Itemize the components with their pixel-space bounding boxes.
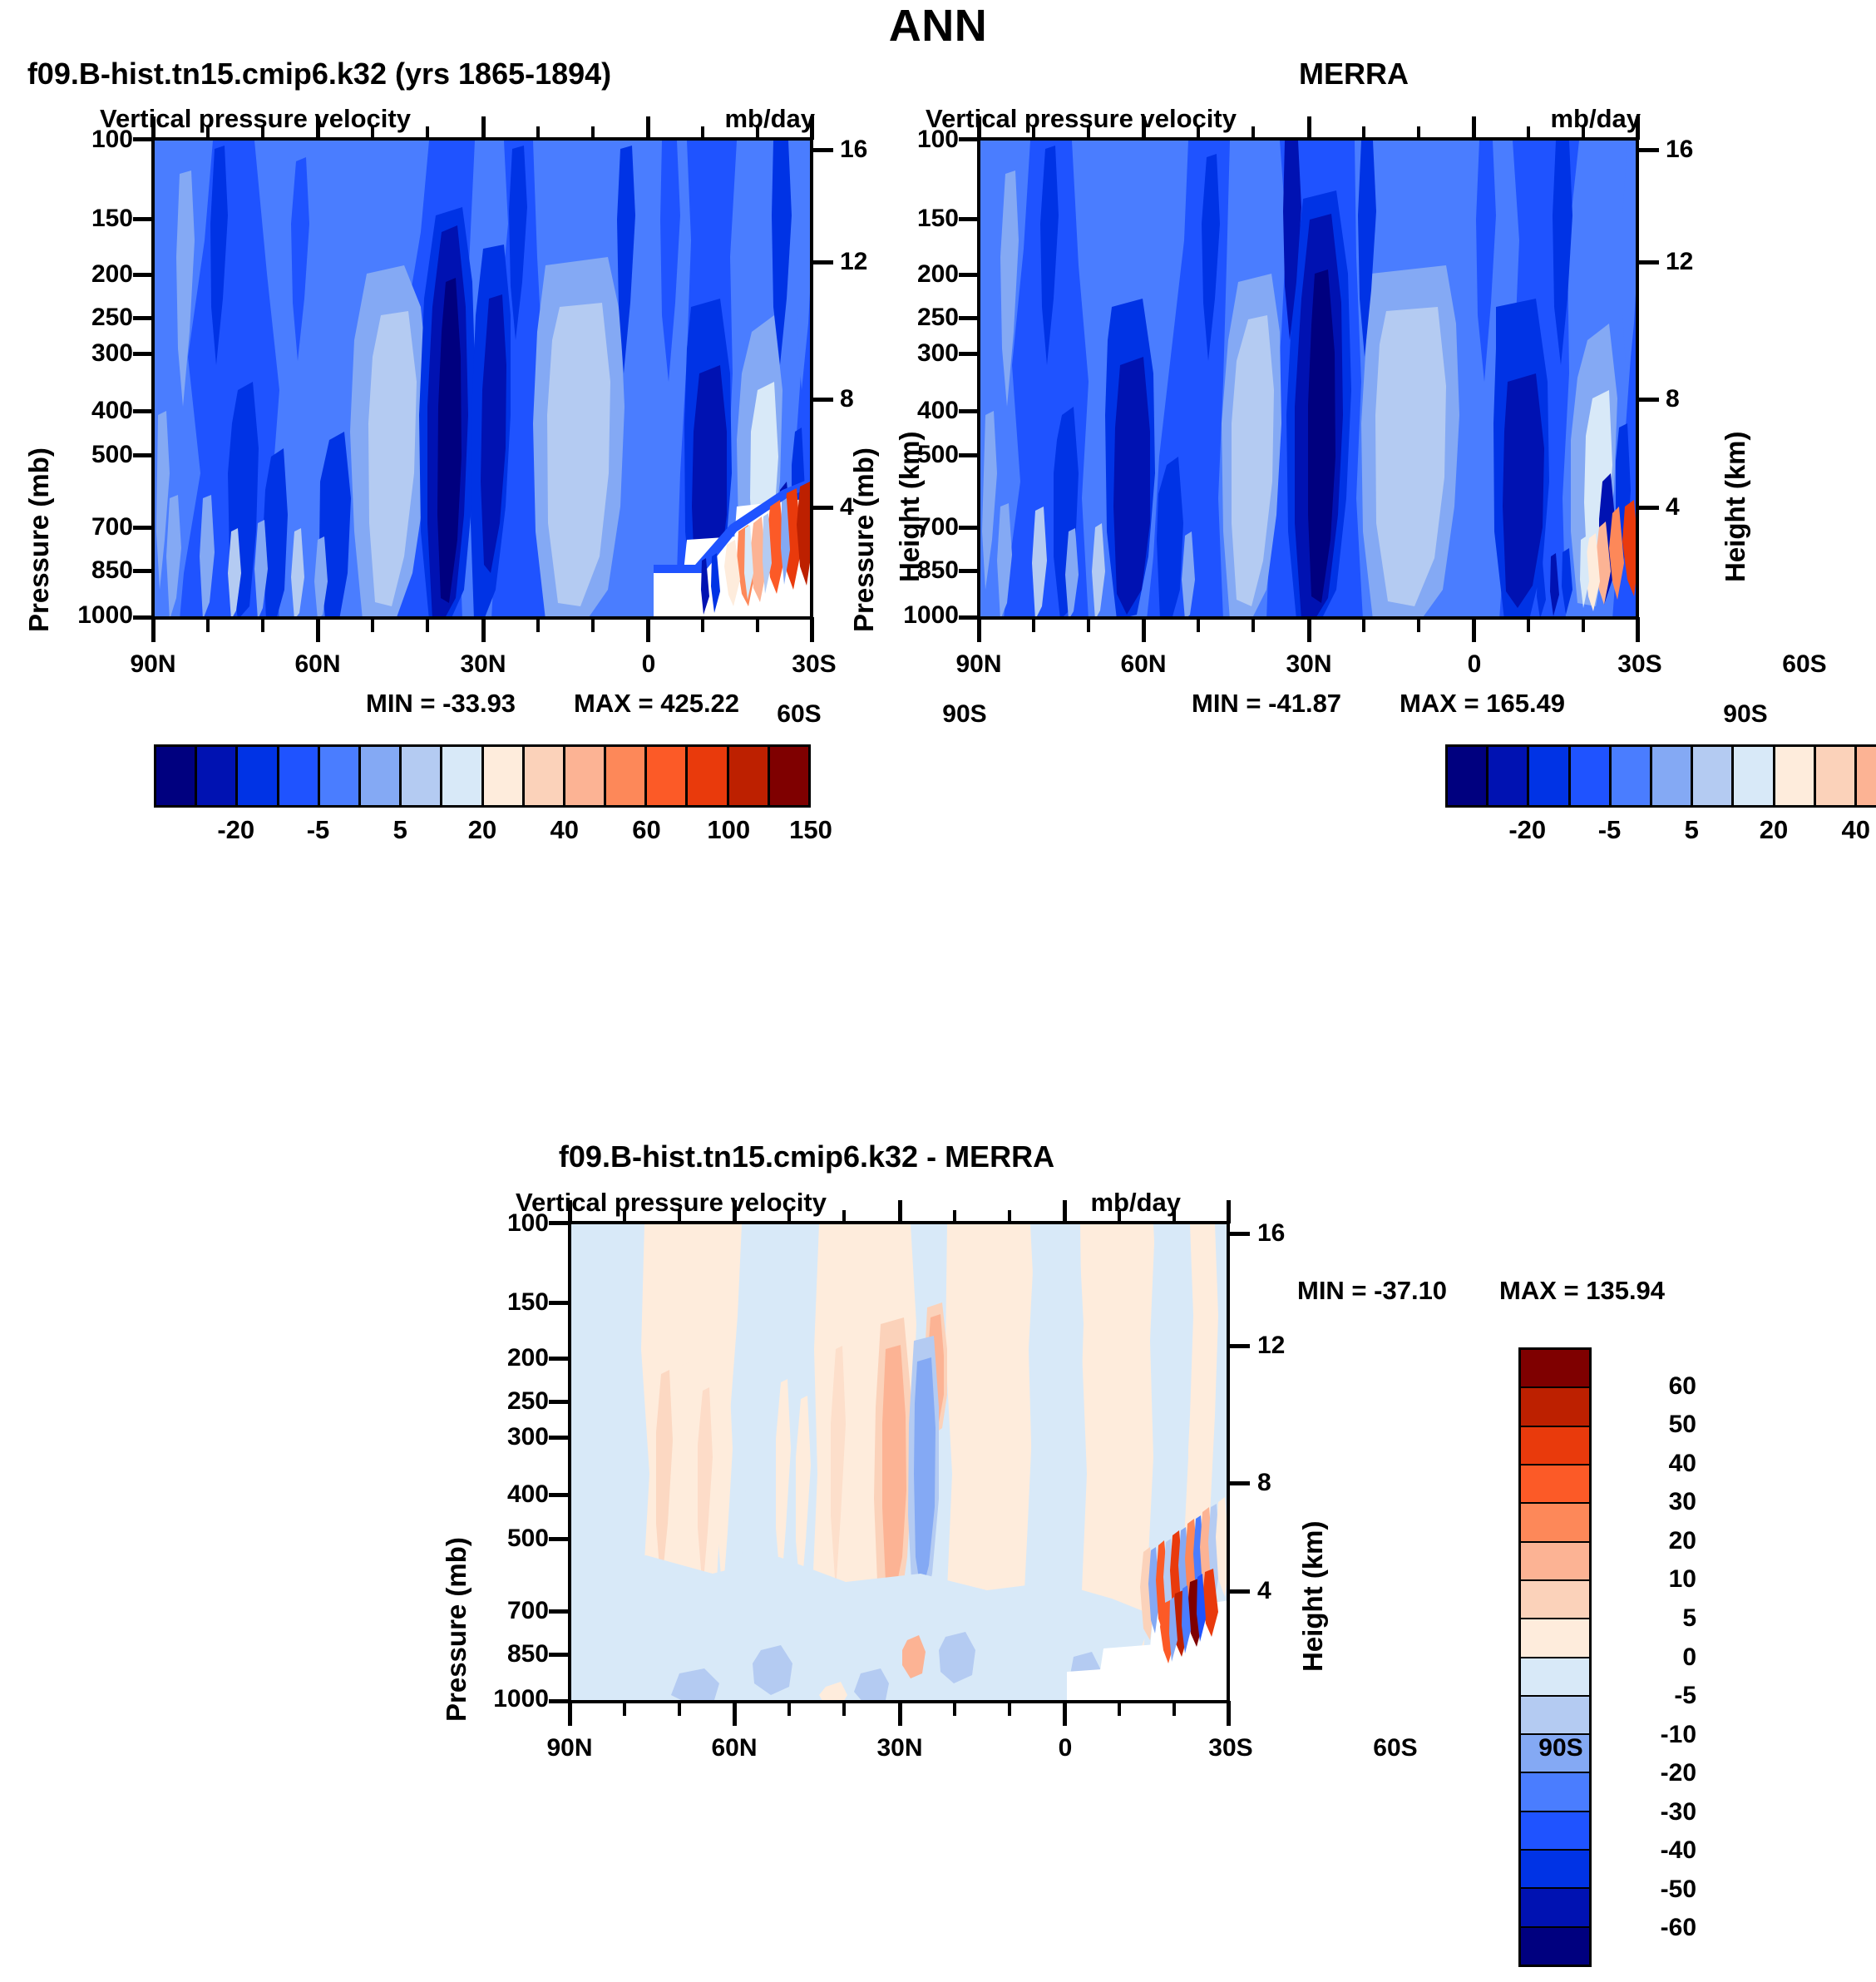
panel-obs-title: MERRA xyxy=(1299,57,1409,91)
height-tick-8: 8 xyxy=(1257,1469,1316,1497)
colorbar-tick-label: 5 xyxy=(393,815,407,845)
pressure-tick-1000: 1000 xyxy=(462,1685,549,1713)
colorbar-tick-label: 60 xyxy=(632,815,660,845)
lat-tick-60S: 60S xyxy=(1782,650,1826,679)
colorbar-tick-label: 20 xyxy=(1760,815,1788,845)
xtick-mark-top xyxy=(371,126,374,140)
ytick-mark-right xyxy=(813,148,833,152)
xtick-mark-top xyxy=(261,126,264,140)
colorbar-cell-10 xyxy=(1857,747,1876,805)
ytick-mark-right xyxy=(813,260,833,264)
lat-tick-90N: 90N xyxy=(955,650,1001,679)
colorbar-tick-label: 150 xyxy=(789,815,832,845)
xtick-mark-bottom xyxy=(591,617,595,632)
colorbar-model[interactable] xyxy=(154,744,811,808)
xtick-mark-top xyxy=(733,1200,737,1223)
colorbar-cell-8 xyxy=(484,747,525,805)
colorbar-diff-cell-6 xyxy=(1521,1581,1589,1619)
colorbar-cell-14 xyxy=(729,747,770,805)
colorbar-cell-4 xyxy=(320,747,361,805)
colorbar-diff-tick-label: 40 xyxy=(1669,1450,1696,1478)
pressure-tick-200: 200 xyxy=(884,260,959,289)
colorbar-tick-label: -5 xyxy=(1598,815,1622,845)
colorbar-obs-labels: -20-55204060100150 xyxy=(1445,815,1876,852)
xtick-mark-top xyxy=(1032,126,1035,140)
colorbar-cell-5 xyxy=(361,747,402,805)
ytick-mark xyxy=(549,1493,569,1497)
xtick-mark-bottom xyxy=(1362,617,1365,632)
xtick-mark-bottom xyxy=(1636,617,1640,642)
ytick-mark xyxy=(549,1436,569,1440)
pressure-tick-300: 300 xyxy=(58,339,133,368)
lat-tick-60N: 60N xyxy=(711,1734,757,1762)
colorbar-cell-9 xyxy=(1816,747,1857,805)
xtick-mark-top xyxy=(1118,1210,1121,1223)
lat-tick-0: 0 xyxy=(1468,650,1482,679)
pressure-tick-700: 700 xyxy=(884,513,959,541)
xtick-mark-bottom xyxy=(678,1701,681,1716)
lat-tick-90S-diff: 90S xyxy=(1538,1734,1582,1762)
ytick-mark xyxy=(959,615,979,620)
pressure-tick-100: 100 xyxy=(58,126,133,154)
pressure-tick-250: 250 xyxy=(884,304,959,332)
ytick-mark-right xyxy=(1639,506,1659,510)
ytick-mark xyxy=(959,409,979,413)
lat-tick-60S-model: 60S xyxy=(777,700,821,729)
units-label: mb/day xyxy=(724,104,815,134)
colorbar-cell-4 xyxy=(1612,747,1652,805)
ytick-mark xyxy=(133,316,153,320)
colorbar-cell-0 xyxy=(1448,747,1488,805)
colorbar-diff-tick-label: -60 xyxy=(1661,1914,1696,1942)
xtick-mark-bottom xyxy=(1142,617,1146,642)
colorbar-diff-tick-label: 30 xyxy=(1669,1488,1696,1516)
colorbar-cell-7 xyxy=(1734,747,1775,805)
ytick-mark xyxy=(549,1221,569,1225)
pressure-tick-1000: 1000 xyxy=(46,601,133,630)
pressure-tick-150: 150 xyxy=(474,1288,549,1317)
ytick-mark xyxy=(549,1699,569,1703)
xtick-mark-bottom xyxy=(1008,1701,1011,1716)
colorbar-cell-3 xyxy=(1571,747,1612,805)
panel-obs: MERRA Vertical pressure velocity mb/day … xyxy=(938,50,1876,1131)
xtick-mark-top xyxy=(1063,1200,1067,1223)
colorbar-diff-cell-2 xyxy=(1521,1427,1589,1465)
xtick-mark-bottom xyxy=(1118,1701,1121,1716)
xtick-mark-bottom xyxy=(756,617,759,632)
colorbar-cell-5 xyxy=(1652,747,1693,805)
colorbar-cell-6 xyxy=(1693,747,1734,805)
colorbar-diff-cell-5 xyxy=(1521,1543,1589,1581)
height-axis-label: Height (km) xyxy=(1720,432,1751,583)
variable-name-label: Vertical pressure velocity xyxy=(100,104,411,134)
pressure-tick-400: 400 xyxy=(474,1480,549,1509)
ytick-mark xyxy=(959,453,979,457)
xtick-mark-bottom xyxy=(1227,1701,1231,1726)
xtick-mark-bottom xyxy=(733,1701,737,1726)
pressure-tick-500: 500 xyxy=(884,441,959,469)
colorbar-diff-cell-4 xyxy=(1521,1504,1589,1542)
xtick-mark-bottom xyxy=(787,1701,791,1716)
height-tick-16: 16 xyxy=(1257,1219,1316,1248)
colorbar-diff-cell-12 xyxy=(1521,1812,1589,1851)
contour-plot-diff xyxy=(568,1221,1230,1703)
xtick-mark-bottom xyxy=(1063,1701,1067,1726)
xtick-mark-top xyxy=(898,1200,902,1223)
colorbar-cell-1 xyxy=(197,747,238,805)
xtick-mark-top xyxy=(591,126,595,140)
colorbar-obs[interactable] xyxy=(1445,744,1876,808)
xtick-mark-bottom xyxy=(1197,617,1200,632)
colorbar-tick-label: 100 xyxy=(707,815,750,845)
xtick-mark-bottom xyxy=(206,617,210,632)
xtick-mark-bottom xyxy=(701,617,704,632)
xtick-mark-top xyxy=(1472,116,1476,140)
ytick-mark xyxy=(549,1357,569,1361)
colorbar-diff-cell-7 xyxy=(1521,1619,1589,1658)
xtick-mark-bottom xyxy=(842,1701,846,1716)
colorbar-cell-0 xyxy=(156,747,197,805)
pressure-tick-500: 500 xyxy=(58,441,133,469)
pressure-tick-100: 100 xyxy=(884,126,959,154)
pressure-tick-250: 250 xyxy=(474,1387,549,1416)
pressure-tick-850: 850 xyxy=(474,1640,549,1668)
xtick-mark-top xyxy=(568,1200,572,1223)
ytick-mark-right xyxy=(1230,1232,1250,1236)
diff-max-label: MAX = 135.94 xyxy=(1499,1276,1665,1306)
pressure-tick-500: 500 xyxy=(474,1525,549,1553)
colorbar-tick-label: -5 xyxy=(307,815,330,845)
colorbar-diff-tick-label: -5 xyxy=(1674,1682,1696,1710)
ytick-mark-right xyxy=(1230,1481,1250,1485)
colorbar-diff-tick-label: 50 xyxy=(1669,1411,1696,1439)
lat-tick-30N: 30N xyxy=(1286,650,1331,679)
colorbar-tick-label: 40 xyxy=(550,815,579,845)
colorbar-diff-tick-label: 0 xyxy=(1682,1643,1696,1672)
colorbar-diff-cell-8 xyxy=(1521,1658,1589,1697)
pressure-tick-300: 300 xyxy=(474,1423,549,1451)
colorbar-diff-cell-11 xyxy=(1521,1773,1589,1811)
lat-tick-30S: 30S xyxy=(1617,650,1661,679)
xtick-mark-bottom xyxy=(898,1701,902,1726)
colorbar-cell-3 xyxy=(279,747,320,805)
ytick-mark xyxy=(959,273,979,277)
xtick-mark-top xyxy=(1008,1210,1011,1223)
xtick-mark-bottom xyxy=(1251,617,1255,632)
pressure-tick-300: 300 xyxy=(884,339,959,368)
panel-diff: f09.B-hist.tn15.cmip6.k32 - MERRA Vertic… xyxy=(466,1139,1422,1980)
ytick-mark-right xyxy=(1639,148,1659,152)
height-tick-4: 4 xyxy=(1257,1577,1316,1605)
lat-tick-60N: 60N xyxy=(294,650,340,679)
ytick-mark xyxy=(133,273,153,277)
pressure-tick-400: 400 xyxy=(884,397,959,425)
ytick-mark xyxy=(549,1653,569,1657)
ytick-mark xyxy=(549,1609,569,1614)
colorbar-diff-tick-label: 5 xyxy=(1682,1604,1696,1633)
xtick-mark-bottom xyxy=(1032,617,1035,632)
xtick-mark-top xyxy=(1172,1210,1176,1223)
xtick-mark-bottom xyxy=(1472,617,1476,642)
ytick-mark-right xyxy=(1230,1589,1250,1594)
xtick-mark-top xyxy=(787,1210,791,1223)
xtick-mark-top xyxy=(701,126,704,140)
colorbar-cell-2 xyxy=(238,747,279,805)
colorbar-diff-tick-label: -50 xyxy=(1661,1876,1696,1904)
xtick-mark-top xyxy=(1636,116,1640,140)
colorbar-diff-cell-13 xyxy=(1521,1851,1589,1889)
variable-name-label: Vertical pressure velocity xyxy=(926,104,1237,134)
xtick-mark-top xyxy=(1417,126,1420,140)
lat-tick-0: 0 xyxy=(1059,1734,1073,1762)
xtick-mark-top xyxy=(646,116,650,140)
pressure-tick-850: 850 xyxy=(884,556,959,585)
height-tick-16: 16 xyxy=(1666,136,1724,164)
xtick-mark-top xyxy=(481,116,486,140)
xtick-mark-bottom xyxy=(536,617,540,632)
colorbar-diff-tick-label: -40 xyxy=(1661,1836,1696,1865)
diff-min-label: MIN = -37.10 xyxy=(1297,1276,1447,1306)
pressure-tick-200: 200 xyxy=(58,260,133,289)
units-label: mb/day xyxy=(1090,1188,1181,1218)
xtick-mark-bottom xyxy=(810,617,814,642)
pressure-tick-250: 250 xyxy=(58,304,133,332)
ytick-mark xyxy=(549,1400,569,1404)
units-label: mb/day xyxy=(1550,104,1641,134)
xtick-mark-bottom xyxy=(1172,1701,1176,1716)
ytick-mark xyxy=(133,615,153,620)
model-max-label: MAX = 425.22 xyxy=(574,689,739,719)
xtick-mark-top xyxy=(1582,126,1585,140)
ytick-mark xyxy=(549,1537,569,1541)
colorbar-cell-1 xyxy=(1488,747,1529,805)
lat-tick-90S-model: 90S xyxy=(942,700,986,729)
pressure-tick-700: 700 xyxy=(474,1597,549,1625)
xtick-mark-top xyxy=(1251,126,1255,140)
colorbar-tick-label: -20 xyxy=(217,815,254,845)
xtick-mark-bottom xyxy=(1527,617,1530,632)
pressure-tick-150: 150 xyxy=(884,205,959,233)
xtick-mark-top xyxy=(678,1210,681,1223)
colorbar-cell-15 xyxy=(770,747,808,805)
colorbar-cell-13 xyxy=(688,747,728,805)
xtick-mark-bottom xyxy=(426,617,429,632)
colorbar-cell-12 xyxy=(647,747,688,805)
model-min-label: MIN = -33.93 xyxy=(366,689,516,719)
height-tick-4: 4 xyxy=(1666,493,1724,521)
xtick-mark-bottom xyxy=(646,617,650,642)
ytick-mark xyxy=(133,409,153,413)
colorbar-cell-2 xyxy=(1529,747,1570,805)
xtick-mark-top xyxy=(623,1210,626,1223)
xtick-mark-bottom xyxy=(481,617,486,642)
colorbar-tick-label: 40 xyxy=(1842,815,1870,845)
xtick-mark-top xyxy=(977,116,981,140)
xtick-mark-top xyxy=(426,126,429,140)
colorbar-cell-10 xyxy=(565,747,606,805)
colorbar-diff-tick-label: -10 xyxy=(1661,1721,1696,1749)
panel-model: f09.B-hist.tn15.cmip6.k32 (yrs 1865-1894… xyxy=(0,50,938,1131)
colorbar-tick-label: 20 xyxy=(468,815,496,845)
xtick-mark-bottom xyxy=(261,617,264,632)
xtick-mark-bottom xyxy=(151,617,156,642)
lat-tick-30S: 30S xyxy=(1208,1734,1252,1762)
colorbar-diff-tick-label: -30 xyxy=(1661,1798,1696,1826)
ytick-mark xyxy=(133,453,153,457)
xtick-mark-bottom xyxy=(316,617,320,642)
colorbar-diff-tick-label: 20 xyxy=(1669,1527,1696,1555)
pressure-tick-400: 400 xyxy=(58,397,133,425)
pressure-tick-200: 200 xyxy=(474,1344,549,1372)
colorbar-diff[interactable] xyxy=(1518,1347,1592,1967)
xtick-mark-top xyxy=(1087,126,1090,140)
xtick-mark-top xyxy=(953,1210,956,1223)
xtick-mark-top xyxy=(810,116,814,140)
contour-plot-obs xyxy=(977,137,1639,620)
contour-plot-model xyxy=(151,137,813,620)
pressure-tick-1000: 1000 xyxy=(871,601,959,630)
ytick-mark xyxy=(959,569,979,573)
colorbar-cell-7 xyxy=(442,747,483,805)
colorbar-diff-cell-14 xyxy=(1521,1889,1589,1927)
xtick-mark-top xyxy=(1527,126,1530,140)
height-tick-8: 8 xyxy=(1666,385,1724,413)
ytick-mark xyxy=(133,569,153,573)
ytick-mark xyxy=(959,526,979,530)
xtick-mark-bottom xyxy=(1417,617,1420,632)
colorbar-cell-8 xyxy=(1775,747,1816,805)
xtick-mark-bottom xyxy=(953,1701,956,1716)
ytick-mark xyxy=(133,352,153,356)
xtick-mark-bottom xyxy=(568,1701,572,1726)
obs-min-label: MIN = -41.87 xyxy=(1192,689,1341,719)
height-tick-12: 12 xyxy=(1666,248,1724,276)
xtick-mark-bottom xyxy=(1087,617,1090,632)
panel-diff-title: f09.B-hist.tn15.cmip6.k32 - MERRA xyxy=(559,1139,1054,1174)
lat-tick-60N: 60N xyxy=(1120,650,1166,679)
ytick-mark xyxy=(959,137,979,141)
xtick-mark-top xyxy=(206,126,210,140)
ytick-mark xyxy=(959,316,979,320)
pressure-tick-100: 100 xyxy=(474,1209,549,1238)
panel-diff-subtitle: Vertical pressure velocity mb/day xyxy=(516,1188,1181,1218)
lat-tick-30N: 30N xyxy=(460,650,506,679)
xtick-mark-top xyxy=(151,116,156,140)
pressure-tick-150: 150 xyxy=(58,205,133,233)
colorbar-cell-6 xyxy=(402,747,442,805)
xtick-mark-bottom xyxy=(371,617,374,632)
xtick-mark-bottom xyxy=(1582,617,1585,632)
obs-max-label: MAX = 165.49 xyxy=(1400,689,1565,719)
xtick-mark-bottom xyxy=(1307,617,1311,642)
colorbar-diff-labels: 60504030201050-5-10-20-30-40-50-60 xyxy=(1597,1347,1696,1967)
panel-model-title: f09.B-hist.tn15.cmip6.k32 (yrs 1865-1894… xyxy=(27,57,611,91)
pressure-tick-850: 850 xyxy=(58,556,133,585)
lat-tick-0: 0 xyxy=(642,650,656,679)
xtick-mark-top xyxy=(1362,126,1365,140)
colorbar-diff-cell-1 xyxy=(1521,1388,1589,1426)
xtick-mark-bottom xyxy=(623,1701,626,1716)
ytick-mark xyxy=(133,526,153,530)
ytick-mark-right xyxy=(1639,398,1659,402)
lat-tick-30N: 30N xyxy=(876,1734,922,1762)
xtick-mark-top xyxy=(756,126,759,140)
xtick-mark-top xyxy=(1197,126,1200,140)
colorbar-diff-cell-0 xyxy=(1521,1350,1589,1388)
variable-name-label: Vertical pressure velocity xyxy=(516,1188,827,1218)
lat-tick-90N: 90N xyxy=(546,1734,592,1762)
ytick-mark xyxy=(959,352,979,356)
xtick-mark-top xyxy=(536,126,540,140)
ytick-mark-right xyxy=(813,398,833,402)
lat-tick-90N: 90N xyxy=(130,650,175,679)
colorbar-model-labels: -20-55204060100150 xyxy=(154,815,811,852)
xtick-mark-top xyxy=(1142,116,1146,140)
xtick-mark-bottom xyxy=(977,617,981,642)
colorbar-tick-label: -20 xyxy=(1508,815,1546,845)
pressure-tick-700: 700 xyxy=(58,513,133,541)
colorbar-diff-cell-9 xyxy=(1521,1697,1589,1735)
colorbar-diff-tick-label: -20 xyxy=(1661,1759,1696,1787)
xtick-mark-top xyxy=(842,1210,846,1223)
ytick-mark-right xyxy=(1639,260,1659,264)
colorbar-diff-cell-3 xyxy=(1521,1465,1589,1504)
colorbar-diff-cell-15 xyxy=(1521,1928,1589,1965)
lat-tick-90S-obs: 90S xyxy=(1723,700,1767,729)
xtick-mark-top xyxy=(316,116,320,140)
lat-tick-60S: 60S xyxy=(1373,1734,1417,1762)
colorbar-cell-9 xyxy=(525,747,565,805)
colorbar-diff-tick-label: 10 xyxy=(1669,1565,1696,1594)
ytick-mark xyxy=(133,217,153,221)
colorbar-cell-11 xyxy=(606,747,647,805)
colorbar-tick-label: 5 xyxy=(1685,815,1699,845)
ytick-mark xyxy=(549,1301,569,1305)
figure-title: ANN xyxy=(0,0,1876,52)
ytick-mark-right xyxy=(1230,1344,1250,1348)
colorbar-diff-tick-label: 60 xyxy=(1669,1372,1696,1401)
ytick-mark xyxy=(133,137,153,141)
xtick-mark-top xyxy=(1227,1200,1231,1223)
ytick-mark xyxy=(959,217,979,221)
ytick-mark-right xyxy=(813,506,833,510)
lat-tick-30S: 30S xyxy=(792,650,836,679)
xtick-mark-top xyxy=(1307,116,1311,140)
height-tick-12: 12 xyxy=(1257,1332,1316,1360)
